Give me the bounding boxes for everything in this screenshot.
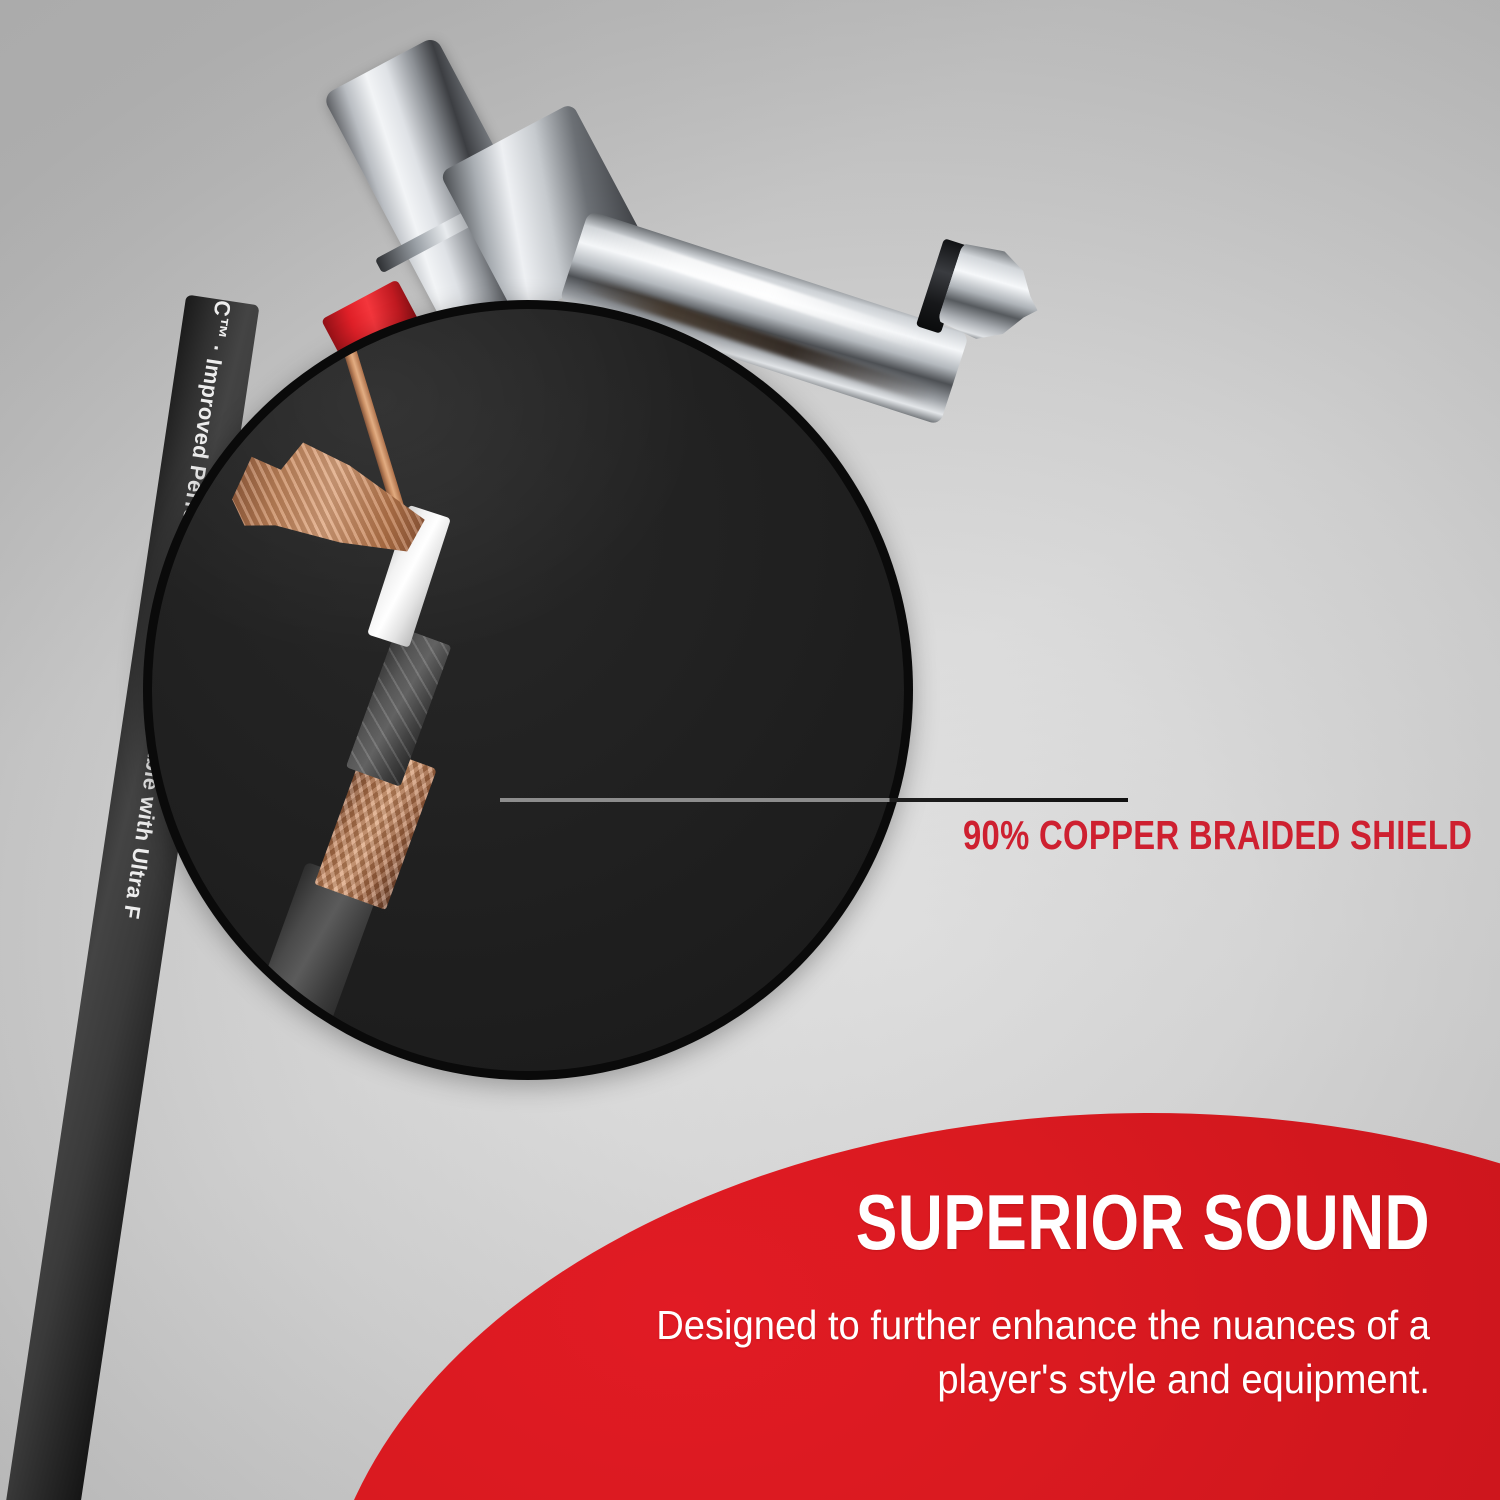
callout-label-text: 90% COPPER BRAIDED SHIELD [963,812,1472,859]
promo-copy-block: SUPERIOR SOUND Designed to further enhan… [470,1185,1430,1406]
promo-body-text: Designed to further enhance the nuances … [537,1298,1430,1406]
callout-leader-line [500,798,1128,802]
magnified-cable-cutaway [152,309,904,1071]
product-image-stage: C™ · Improved Performance Instrument Cab… [0,0,1500,1500]
conductive-pvc-layer [346,626,452,787]
magnifier-interior [152,309,904,1071]
magnifier-circle [143,300,913,1080]
callout-label: 90% COPPER BRAIDED SHIELD [963,812,1500,859]
promo-headline: SUPERIOR SOUND [662,1185,1430,1260]
